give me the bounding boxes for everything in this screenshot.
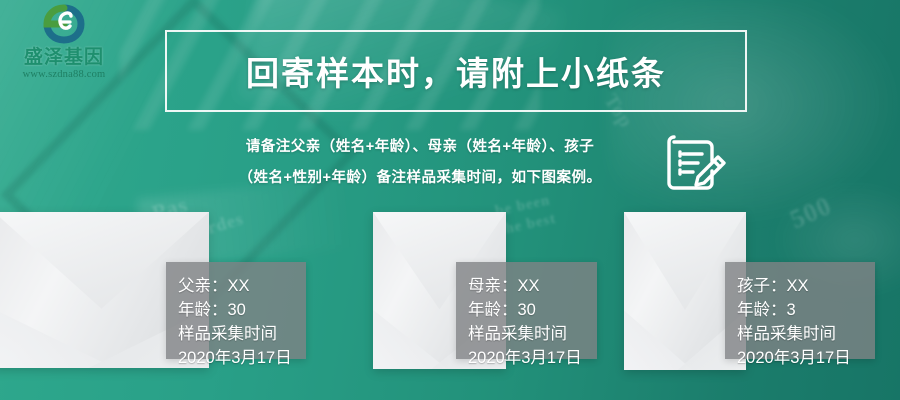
note-collect-label-2: 样品采集时间 — [468, 322, 597, 346]
banner-root: Pas Tardes be been he best 500 Top 盛泽基因 … — [0, 0, 900, 400]
note-collect-date-2: 2020年3月17日 — [468, 346, 597, 370]
note-collect-label-3: 样品采集时间 — [737, 322, 875, 346]
logo-website: www.szdna88.com — [8, 68, 120, 81]
description-line-2: （姓名+性别+年龄）备注样品采集时间，如下图案例。 — [205, 163, 635, 194]
description-line-1: 请备注父亲（姓名+年龄）、母亲（姓名+年龄）、孩子 — [205, 132, 635, 163]
note-collect-label-1: 样品采集时间 — [178, 322, 306, 346]
title-frame: 回寄样本时，请附上小纸条 — [165, 30, 747, 112]
description-text: 请备注父亲（姓名+年龄）、母亲（姓名+年龄）、孩子 （姓名+性别+年龄）备注样品… — [205, 132, 635, 194]
note-person-2: 母亲：XX — [468, 274, 597, 298]
company-logo[interactable]: 盛泽基因 www.szdna88.com — [8, 4, 120, 78]
note-collect-date-1: 2020年3月17日 — [178, 346, 306, 370]
note-age-1: 年龄：30 — [178, 298, 306, 322]
note-collect-date-3: 2020年3月17日 — [737, 346, 875, 370]
background-ghost-text-5: 500 — [786, 191, 837, 235]
page-title: 回寄样本时，请附上小纸条 — [246, 47, 666, 95]
note-card-3: 孩子：XX 年龄：3 样品采集时间 2020年3月17日 — [725, 262, 875, 359]
note-person-1: 父亲：XX — [178, 274, 306, 298]
note-age-3: 年龄：3 — [737, 298, 875, 322]
logo-company-name: 盛泽基因 — [8, 47, 120, 68]
note-age-2: 年龄：30 — [468, 298, 597, 322]
document-pencil-icon — [664, 133, 730, 197]
szdna-circle-e-logo-icon — [41, 4, 87, 46]
note-person-3: 孩子：XX — [737, 274, 875, 298]
note-card-2: 母亲：XX 年龄：30 样品采集时间 2020年3月17日 — [456, 262, 597, 359]
note-card-1: 父亲：XX 年龄：30 样品采集时间 2020年3月17日 — [166, 262, 306, 359]
